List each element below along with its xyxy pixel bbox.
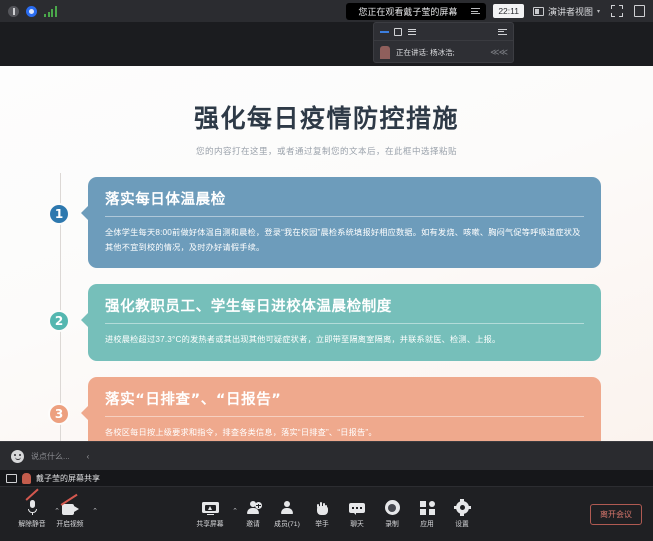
list-item: 2 强化教职员工、学生每日进校体温晨检制度 进校晨检超过37.3°C的发热者或其… <box>88 284 601 360</box>
chevron-left-icon[interactable]: ‹ <box>87 452 90 461</box>
page-subtitle: 您的内容打在这里，或者通过复制您的文本后，在此框中选择粘贴 <box>0 145 653 157</box>
view-mode-selector[interactable]: 演讲者视图 ▾ <box>533 5 600 18</box>
floating-panel-titlebar <box>374 23 513 41</box>
meeting-toolbar: 解除静音 ⌃ 开启视频 ⌃ 共享屏幕 ⌃ 邀请 <box>0 486 653 541</box>
gear-icon <box>455 496 470 515</box>
chevron-up-icon[interactable]: ⌃ <box>92 507 98 515</box>
signal-bars-icon[interactable] <box>44 6 57 17</box>
invite-button-label: 邀请 <box>246 518 260 528</box>
invite-user-icon <box>246 496 260 515</box>
top-bar-right-group: 您正在观看戴子莹的屏幕 22:11 演讲者视图 ▾ <box>346 0 653 22</box>
speaker-view-icon <box>533 7 544 16</box>
record-icon <box>385 496 400 515</box>
card-body: 各校区每日按上级要求和指令，排查各类信息，落实“日排查”、“日报告”。 <box>105 425 584 440</box>
browser-icon[interactable] <box>26 6 37 17</box>
chat-button-label: 聊天 <box>350 518 364 528</box>
chat-bar[interactable]: 说点什么... ‹ <box>0 441 653 470</box>
list-item: 1 落实每日体温晨检 全体学生每天8:00前做好体温自测和晨检，登录“我在校园”… <box>88 177 601 268</box>
chat-bubble-icon <box>349 496 365 515</box>
list-item: 3 落实“日排查”、“日报告” 各校区每日按上级要求和指令，排查各类信息，落实“… <box>88 377 601 441</box>
window-mode-icon[interactable] <box>634 5 645 17</box>
chevron-down-icon: ▾ <box>597 8 600 15</box>
audio-wave-icon: ≪≪ <box>490 47 507 58</box>
system-top-bar: 您正在观看戴子莹的屏幕 22:11 演讲者视图 ▾ <box>0 0 653 22</box>
share-screen-button-label: 共享屏幕 <box>196 518 223 528</box>
fullscreen-icon[interactable] <box>611 5 623 17</box>
content-card: 强化教职员工、学生每日进校体温晨检制度 进校晨检超过37.3°C的发热者或其出现… <box>88 284 601 360</box>
system-tray-icons <box>0 6 57 17</box>
card-body: 进校晨检超过37.3°C的发热者或其出现其他可疑症状者，立即带至隔离室隔离，并联… <box>105 332 584 347</box>
step-number-badge: 1 <box>48 203 70 225</box>
step-number-badge: 3 <box>48 403 70 425</box>
floating-video-panel[interactable]: 正在讲话: 杨冰浩; ≪≪ <box>373 22 514 63</box>
card-divider <box>105 416 584 417</box>
participants-icon <box>280 496 294 515</box>
maximize-icon[interactable] <box>394 28 402 36</box>
apps-button-label: 应用 <box>420 518 434 528</box>
smiley-icon[interactable] <box>11 450 24 463</box>
share-status-strip: 戴子莹的屏幕共享 <box>0 470 653 486</box>
card-title: 强化教职员工、学生每日进校体温晨检制度 <box>105 295 584 323</box>
list-view-icon[interactable] <box>408 29 416 35</box>
microphone-muted-icon <box>28 496 37 515</box>
apps-grid-icon <box>420 496 435 515</box>
avatar <box>380 46 390 59</box>
card-title: 落实“日排查”、“日报告” <box>105 388 584 416</box>
settings-button[interactable]: 设置 <box>436 496 488 528</box>
leave-meeting-button[interactable]: 离开会议 <box>590 504 642 525</box>
mute-button-label: 解除静音 <box>18 518 45 528</box>
card-title: 落实每日体温晨检 <box>105 188 584 216</box>
info-icon[interactable] <box>8 6 19 17</box>
chat-input[interactable]: 说点什么... <box>31 451 70 462</box>
shared-slide-content: 强化每日疫情防控措施 您的内容打在这里，或者通过复制您的文本后，在此框中选择粘贴… <box>0 66 653 441</box>
raise-hand-button-label: 举手 <box>315 518 329 528</box>
camera-off-icon <box>62 496 79 515</box>
active-speaker-tile[interactable]: 正在讲话: 杨冰浩; ≪≪ <box>374 41 513 63</box>
panel-menu-icon[interactable] <box>498 29 507 35</box>
menu-lines-icon[interactable] <box>471 8 480 14</box>
cards-list: 1 落实每日体温晨检 全体学生每天8:00前做好体温自测和晨检，登录“我在校园”… <box>0 177 653 441</box>
step-number-badge: 2 <box>48 310 70 332</box>
raise-hand-icon <box>317 496 328 515</box>
share-screen-icon <box>202 496 219 515</box>
screen-share-notice-label: 您正在观看戴子莹的屏幕 <box>358 5 457 18</box>
screen-share-notice[interactable]: 您正在观看戴子莹的屏幕 <box>346 3 486 20</box>
screen-icon <box>6 474 17 483</box>
zoom-meeting-window: 您正在观看戴子莹的屏幕 22:11 演讲者视图 ▾ 正在讲话: 杨冰浩; ≪≪ <box>0 0 653 541</box>
content-card: 落实“日排查”、“日报告” 各校区每日按上级要求和指令，排查各类信息，落实“日排… <box>88 377 601 441</box>
start-video-button-label: 开启视频 <box>56 518 83 528</box>
view-mode-label: 演讲者视图 <box>548 5 593 18</box>
record-button-label: 录制 <box>385 518 399 528</box>
minimize-icon[interactable] <box>380 31 389 33</box>
presenter-avatar-icon <box>22 473 31 484</box>
settings-button-label: 设置 <box>455 518 469 528</box>
card-body: 全体学生每天8:00前做好体温自测和晨检，登录“我在校园”晨检系统填报好相应数据… <box>105 225 584 255</box>
content-card: 落实每日体温晨检 全体学生每天8:00前做好体温自测和晨检，登录“我在校园”晨检… <box>88 177 601 268</box>
card-divider <box>105 216 584 217</box>
share-status-label: 戴子莹的屏幕共享 <box>36 473 100 484</box>
active-speaker-label: 正在讲话: 杨冰浩; <box>396 47 455 58</box>
page-title: 强化每日疫情防控措施 <box>0 99 653 135</box>
clock: 22:11 <box>493 4 524 18</box>
card-divider <box>105 323 584 324</box>
start-video-button[interactable]: 开启视频 ⌃ <box>44 496 96 528</box>
